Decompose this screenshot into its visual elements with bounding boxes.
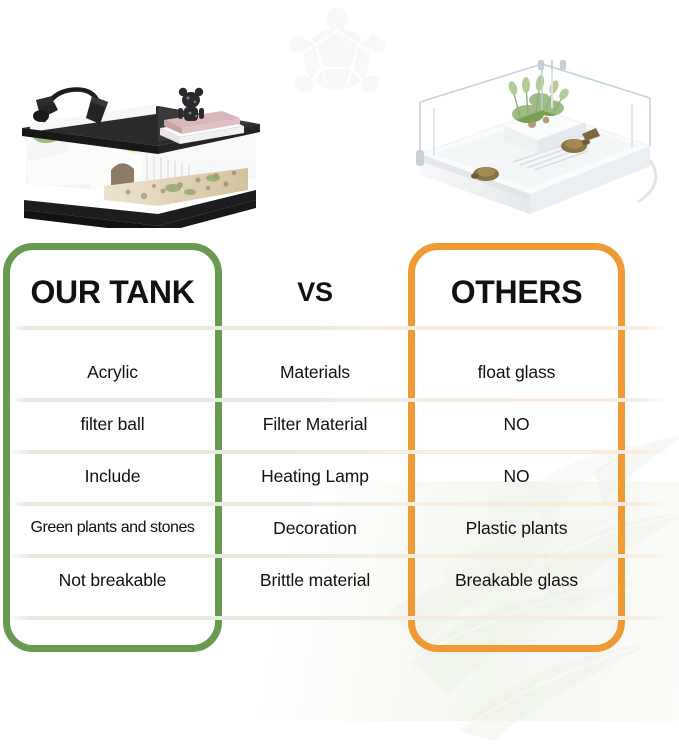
cell-feature: Decoration [228,502,402,554]
product-image-other-tank [400,42,670,224]
cell-our-tank: Green plants and stones [3,502,222,554]
table-row: Green plants and stones Decoration Plast… [0,502,679,554]
cell-our-tank: Acrylic [3,346,222,398]
cell-feature: Filter Material [228,398,402,450]
cell-our-tank: filter ball [3,398,222,450]
cell-others: Breakable glass [408,554,625,606]
table-header-row: OUR TANK VS OTHERS [0,261,679,323]
product-image-our-tank [8,28,270,228]
table-row: Include Heating Lamp NO [0,450,679,502]
row-divider [10,326,669,330]
turtle-silhouette-watermark [282,4,392,104]
table-row: Acrylic Materials float glass [0,346,679,398]
header-our-tank: OUR TANK [3,261,222,323]
cell-our-tank: Not breakable [3,554,222,606]
cell-feature: Brittle material [228,554,402,606]
cell-others: float glass [408,346,625,398]
row-divider [10,616,669,620]
header-vs: VS [228,261,402,323]
cell-others: Plastic plants [408,502,625,554]
cell-our-tank: Include [3,450,222,502]
header-others: OTHERS [408,261,625,323]
cell-others: NO [408,450,625,502]
table-row: filter ball Filter Material NO [0,398,679,450]
cell-others: NO [408,398,625,450]
comparison-table: OUR TANK VS OTHERS Acrylic Materials flo… [0,243,679,653]
table-row: Not breakable Brittle material Breakable… [0,554,679,606]
comparison-infographic: OUR TANK VS OTHERS Acrylic Materials flo… [0,0,679,721]
cell-feature: Heating Lamp [228,450,402,502]
cell-feature: Materials [228,346,402,398]
